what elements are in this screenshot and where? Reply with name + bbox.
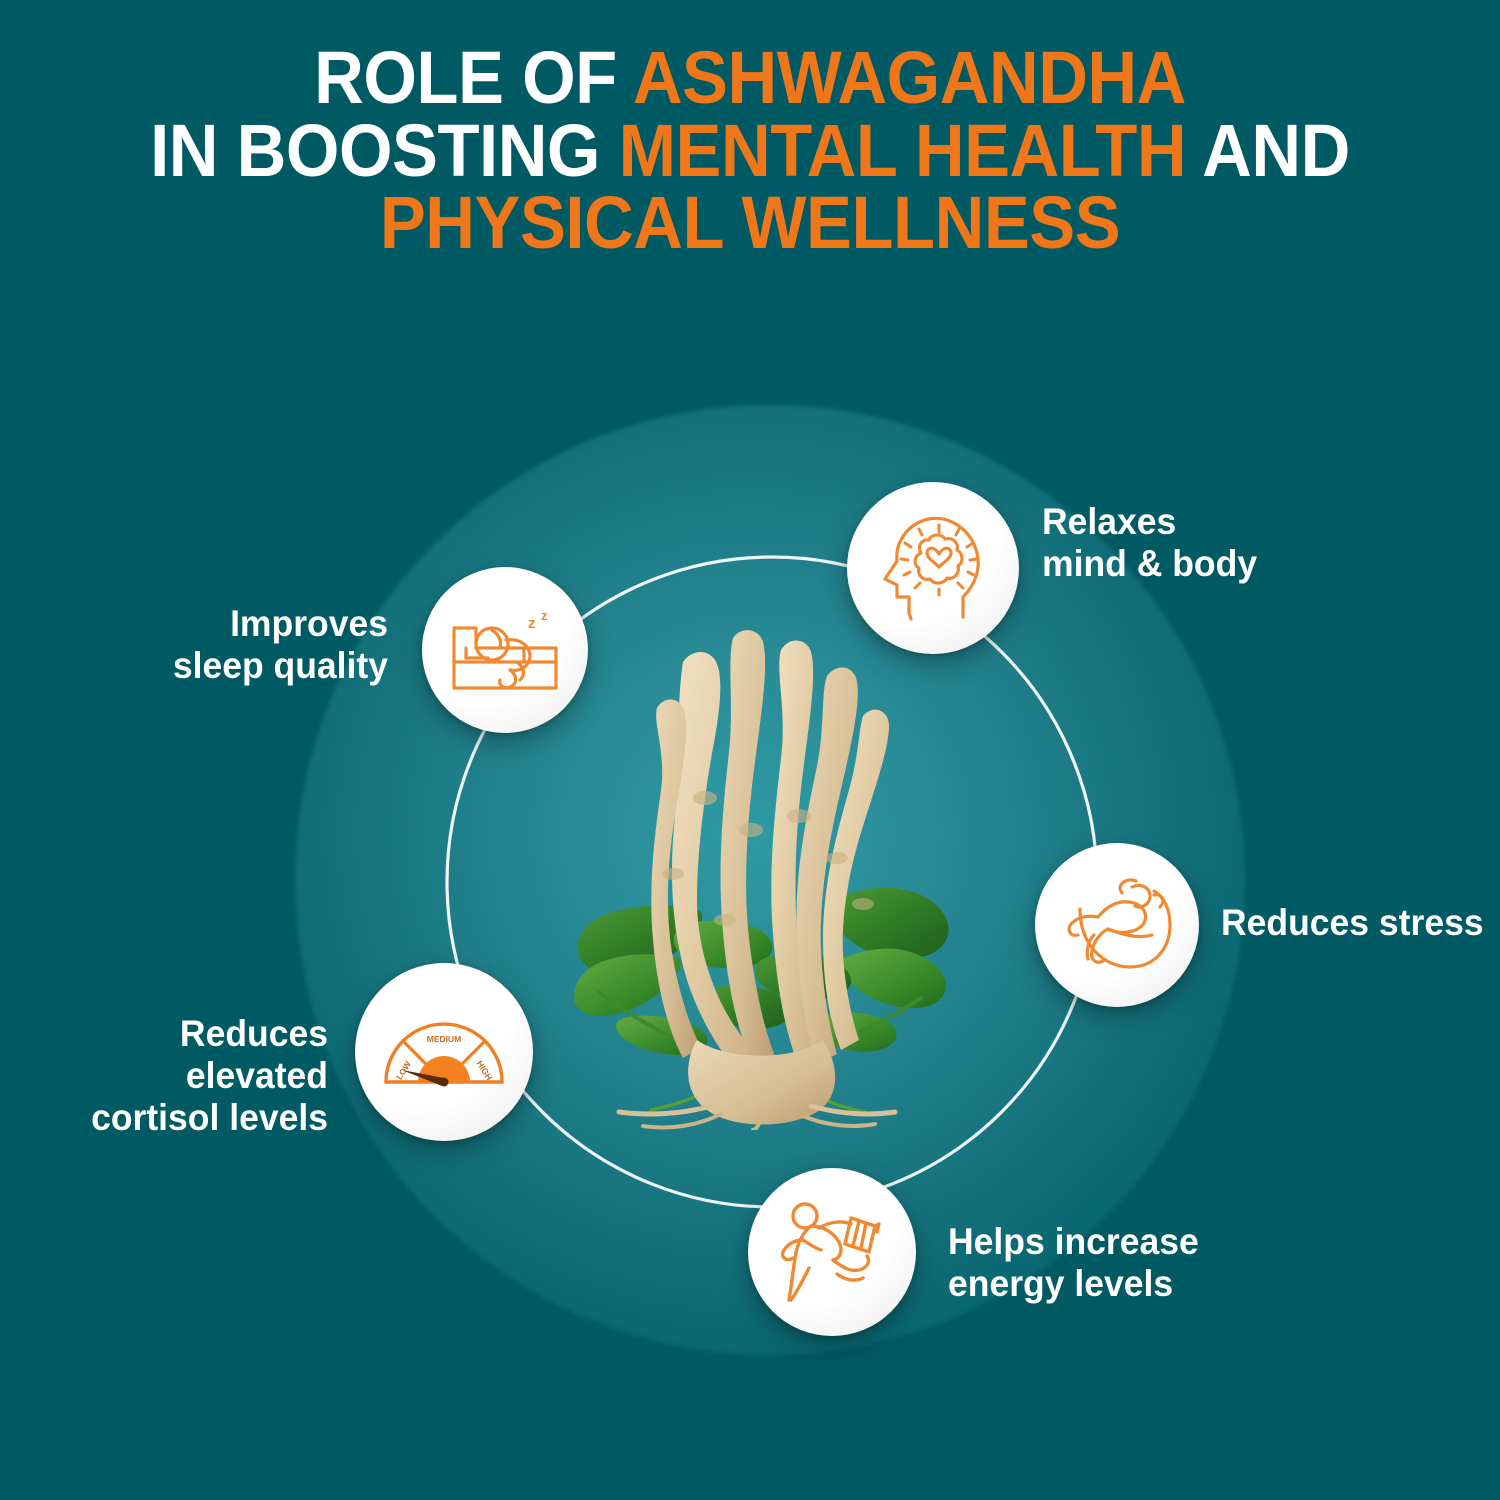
sleep-z-tiny: z xyxy=(541,608,548,623)
benefit-label-relax: Relaxes mind & body xyxy=(1042,501,1359,585)
gauge-label-low: LOW xyxy=(394,1059,414,1082)
sleeping-person-in-bed-icon: z z xyxy=(446,600,564,700)
title-line-3: PHYSICAL WELLNESS xyxy=(53,187,1448,260)
title-line-2: IN BOOSTING MENTAL HEALTH AND xyxy=(53,115,1448,188)
plant-roots xyxy=(619,630,895,1130)
title-line-1: ROLE OF ASHWAGANDHA xyxy=(53,42,1448,115)
head-with-heart-brain-icon xyxy=(875,509,991,627)
title-and: AND xyxy=(1186,109,1350,192)
gauge-meter-icon: LOW MEDIUM HIGH xyxy=(380,1008,508,1096)
title-mental-health: MENTAL HEALTH xyxy=(619,109,1186,192)
sleep-z-small: z xyxy=(528,615,536,632)
benefit-bubble-stress[interactable] xyxy=(1035,843,1199,1007)
benefit-bubble-energy[interactable] xyxy=(748,1168,916,1336)
gauge-label-medium: MEDIUM xyxy=(427,1034,461,1044)
title-role-of: ROLE OF xyxy=(314,36,633,119)
person-reclining-relaxed-icon xyxy=(1058,873,1176,977)
benefit-bubble-relax[interactable] xyxy=(847,482,1019,654)
benefit-bubble-cortisol[interactable]: LOW MEDIUM HIGH xyxy=(355,963,533,1141)
benefit-label-sleep: Improves sleep quality xyxy=(129,603,388,687)
title-physical-wellness: PHYSICAL WELLNESS xyxy=(380,181,1120,264)
page-title: ROLE OF ASHWAGANDHA IN BOOSTING MENTAL H… xyxy=(0,42,1500,260)
running-person-with-battery-icon xyxy=(775,1196,889,1308)
benefit-bubble-sleep[interactable]: z z xyxy=(422,567,588,733)
ashwagandha-plant-image xyxy=(565,620,965,1130)
title-ashwagandha: ASHWAGANDHA xyxy=(633,36,1186,119)
benefit-label-cortisol: Reduces elevated cortisol levels xyxy=(30,1013,328,1140)
infographic-poster: ROLE OF ASHWAGANDHA IN BOOSTING MENTAL H… xyxy=(0,0,1500,1500)
benefit-label-stress: Reduces stress xyxy=(1221,902,1500,944)
gauge-label-high: HIGH xyxy=(475,1059,495,1082)
benefit-label-energy: Helps increase energy levels xyxy=(948,1221,1274,1305)
title-in-boosting: IN BOOSTING xyxy=(150,109,619,192)
